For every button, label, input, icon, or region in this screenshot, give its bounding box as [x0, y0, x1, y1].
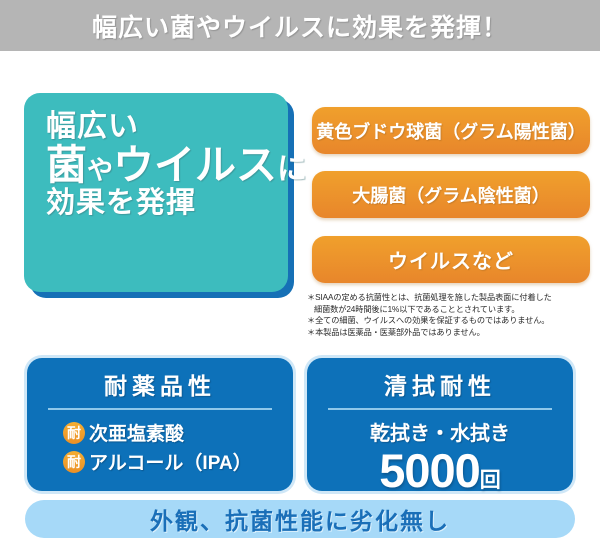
hero-line-2-virus: ウイルス — [113, 142, 277, 188]
target-pill-staphylococcus: 黄色ブドウ球菌（グラム陽性菌） — [312, 107, 590, 154]
chemical-resistance-list: 耐 次亜塩素酸 耐 アルコール（IPA） — [27, 410, 293, 475]
footnote-text: ＊本製品は医薬品・医薬部外品ではありません。 — [307, 328, 485, 337]
footnote-item: ＊本製品は医薬品・医薬部外品ではありません。 — [307, 327, 597, 339]
footnote-text: ＊全ての細菌、ウイルスへの効果を保証するものではありません。 — [307, 316, 549, 325]
wipe-count-number: 5000 — [379, 444, 480, 497]
wipe-resistance-title: 清拭耐性 — [307, 367, 573, 401]
list-item: 耐 次亜塩素酸 — [27, 419, 293, 446]
footnote-item: ＊全ての細菌、ウイルスへの効果を保証するものではありません。 — [307, 315, 597, 327]
target-pill-label: 大腸菌（グラム陰性菌） — [352, 182, 549, 208]
bottom-banner: 外観、抗菌性能に劣化無し — [25, 500, 575, 538]
wipe-resistance-body: 乾拭き・水拭き 5000回 — [307, 410, 573, 494]
target-pill-label: ウイルスなど — [388, 245, 514, 274]
wipe-count-unit: 回 — [480, 469, 501, 492]
footnote-text-continuation: 細菌数が24時間後に1%以下であることとされています。 — [307, 304, 597, 316]
list-item-label: アルコール（IPA） — [89, 448, 252, 475]
hero-line-2-ya: や — [87, 155, 113, 185]
chemical-resistance-panel: 耐薬品性 耐 次亜塩素酸 耐 アルコール（IPA） — [27, 358, 293, 491]
page-title: 幅広い菌やウイルスに効果を発揮！ — [92, 8, 508, 44]
resistance-badge-icon: 耐 — [63, 422, 85, 444]
hero-line-2: 菌やウイルスに — [46, 143, 268, 189]
target-pill-virus: ウイルスなど — [312, 236, 590, 283]
resistance-badge-icon: 耐 — [63, 451, 85, 473]
target-pill-ecoli: 大腸菌（グラム陰性菌） — [312, 171, 590, 218]
header-band: 幅広い菌やウイルスに効果を発揮！ — [0, 0, 600, 51]
chemical-resistance-title: 耐薬品性 — [27, 367, 293, 401]
wipe-resistance-count: 5000回 — [307, 447, 573, 494]
infographic-page: 幅広い菌やウイルスに効果を発揮！ 幅広い 菌やウイルスに 効果を発揮 黄色ブドウ… — [0, 0, 600, 558]
wipe-resistance-subtitle: 乾拭き・水拭き — [307, 417, 573, 446]
hero-line-3: 効果を発揮 — [46, 188, 268, 220]
wipe-resistance-panel: 清拭耐性 乾拭き・水拭き 5000回 — [307, 358, 573, 491]
footnotes: ＊SIAAの定める抗菌性とは、抗菌処理を施した製品表面に付着した 細菌数が24時… — [307, 292, 597, 339]
list-item-label: 次亜塩素酸 — [89, 419, 184, 446]
hero-panel: 幅広い 菌やウイルスに 効果を発揮 — [24, 93, 288, 292]
footnote-item: ＊SIAAの定める抗菌性とは、抗菌処理を施した製品表面に付着した 細菌数が24時… — [307, 292, 597, 315]
footnote-text: ＊SIAAの定める抗菌性とは、抗菌処理を施した製品表面に付着した — [307, 293, 552, 302]
list-item: 耐 アルコール（IPA） — [27, 448, 293, 475]
target-pill-label: 黄色ブドウ球菌（グラム陽性菌） — [316, 118, 585, 144]
hero-line-2-kin: 菌 — [46, 142, 87, 188]
hero-line-2-ni: に — [277, 153, 307, 186]
bottom-banner-label: 外観、抗菌性能に劣化無し — [150, 502, 450, 536]
hero-line-1: 幅広い — [46, 111, 268, 143]
